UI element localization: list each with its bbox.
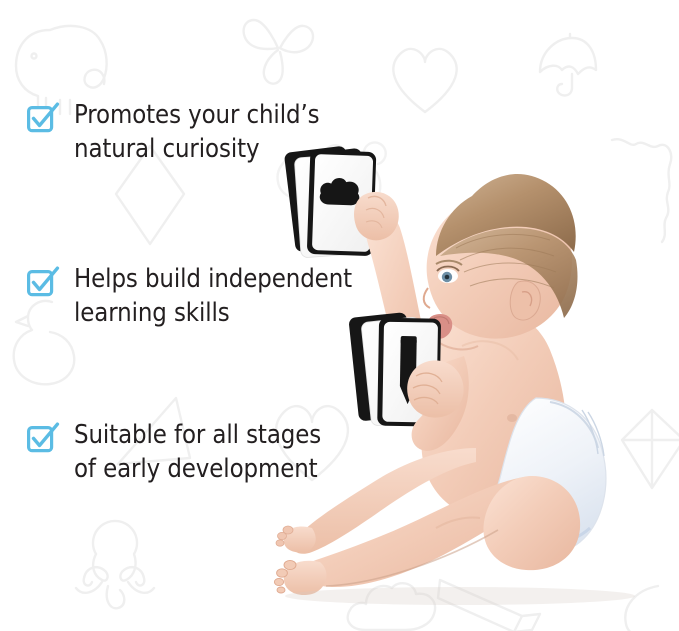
swirl-watermark xyxy=(404,398,524,488)
baby-lower-arm xyxy=(407,356,469,451)
list-item-label: Helps build independent learning skills xyxy=(74,262,352,330)
product-feature-graphic: Promotes your child’s natural curiosity … xyxy=(0,0,679,631)
baby-diaper xyxy=(495,398,606,555)
kite-watermark xyxy=(618,406,679,496)
checked-checkbox-icon xyxy=(26,101,60,135)
checked-checkbox-icon xyxy=(26,265,60,299)
list-item: Helps build independent learning skills xyxy=(26,262,352,330)
umbrella-watermark xyxy=(518,30,608,110)
checked-checkbox-icon xyxy=(26,421,60,455)
baby-head xyxy=(424,174,578,349)
moon-watermark xyxy=(610,580,679,631)
list-item: Promotes your child’s natural curiosity xyxy=(26,98,319,166)
list-item-label: Promotes your child’s natural curiosity xyxy=(74,98,319,166)
baby-torso xyxy=(421,304,567,521)
feature-list: Promotes your child’s natural curiosity … xyxy=(0,0,400,631)
list-item-label: Suitable for all stages of early develop… xyxy=(74,418,321,486)
list-item: Suitable for all stages of early develop… xyxy=(26,418,321,486)
pencil-watermark xyxy=(436,572,556,631)
crown-watermark xyxy=(606,130,679,260)
